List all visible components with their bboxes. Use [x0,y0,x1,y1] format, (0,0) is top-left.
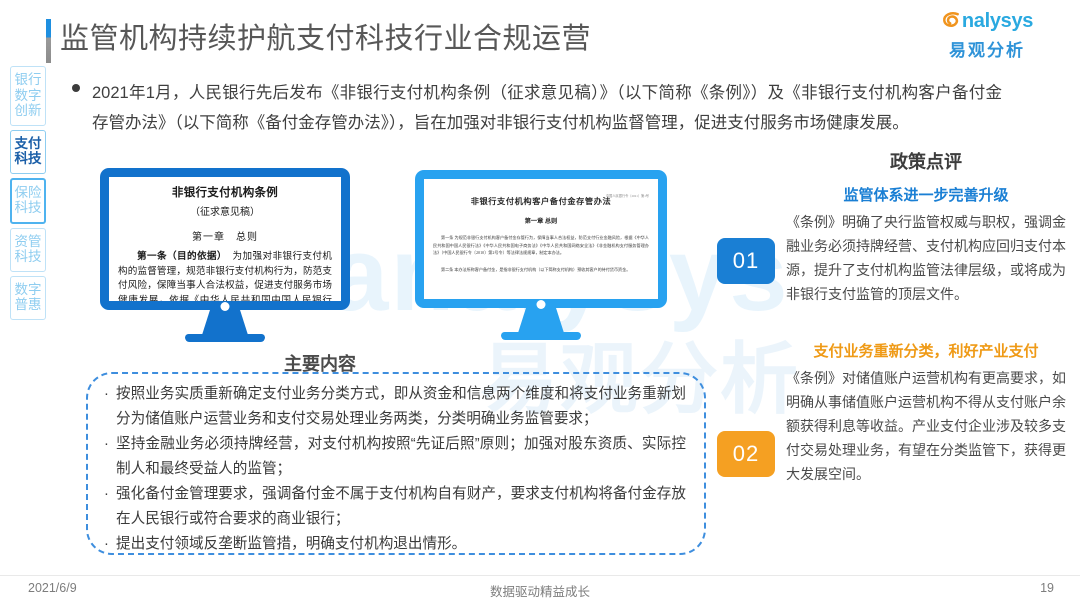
list-item-text: 强化备付金管理要求，强调备付金不属于支付机构自有财产，要求支付机构将备付金存放在… [116,482,686,532]
sidebar-item-bank-digital-innovation[interactable]: 银行数字创新 [10,66,46,126]
monitor-neck [518,307,564,333]
intro-text: 2021年1月，人民银行先后发布《非银行支付机构条例（征求意见稿）》（以下简称《… [92,78,1002,138]
title-accent-bar [46,19,51,63]
commentary-section-1: 监管体系进一步完善升级 《条例》明确了央行监管权威与职权，强调金融业务必须持牌经… [786,184,1066,306]
monitor-indicator-dot [221,302,230,311]
commentary-title: 政策点评 [786,148,1066,174]
logo-chinese-name: 易观分析 [928,36,1046,61]
doc-body: 第一条（目的依据） 为加强对非银行支付机构的监督管理，规范非银行支付机构行为，防… [118,250,332,301]
commentary-spacer [786,306,1066,340]
page-title: 监管机构持续护航支付科技行业合规运营 [60,15,591,57]
list-marker: · [104,432,116,482]
list-marker: · [104,382,116,432]
bullet-dot-icon [72,78,92,138]
main-content-title: 主要内容 [284,350,356,376]
list-item: · 坚持金融业务必须持牌经营，对支付机构按照“先证后照”原则；加强对股东资质、实… [104,432,686,482]
doc-title: 非银行支付机构条例 [118,184,332,200]
main-content-box: · 按照业务实质重新确定支付业务分类方式，即从资金和信息两个维度和将支付业务重新… [86,372,706,555]
commentary-heading: 支付业务重新分类，利好产业支付 [786,340,1066,361]
monitor-indicator-dot [537,300,546,309]
list-item-text: 提出支付领域反垄断监管措，明确支付机构退出情形。 [116,532,686,557]
slide-footer: 2021/6/9 数据驱动精益成长 19 [0,581,1080,605]
logo-main-row: nalysys [928,8,1046,34]
analysys-logo: nalysys 易观分析 [928,8,1046,61]
sidebar-item-payment-tech[interactable]: 支付科技 [10,130,46,174]
footer-page-number: 19 [1040,581,1054,595]
doc-subtitle: （征求意见稿） [118,203,332,218]
swirl-icon [941,10,961,30]
sidebar-item-asset-management-tech[interactable]: 资管科技 [10,228,46,272]
commentary-body: 《条例》对储值账户运营机构有更高要求，如明确从事储值账户运营机构不得从支付账户余… [786,366,1066,486]
intro-paragraph: 2021年1月，人民银行先后发布《非银行支付机构条例（征求意见稿）》（以下简称《… [72,78,1002,138]
badge-02: 02 [717,431,775,477]
commentary-section-2: 支付业务重新分类，利好产业支付 《条例》对储值账户运营机构有更高要求，如明确从事… [786,340,1066,486]
list-item-text: 坚持金融业务必须持牌经营，对支付机构按照“先证后照”原则；加强对股东资质、实际控… [116,432,686,482]
monitor-screen: 中国人民银行令〔2021〕第1号 非银行支付机构客户备付金存管办法 第一章 总则… [424,179,658,299]
list-marker: · [104,532,116,557]
slide-canvas: analysys 易观分析 监管机构持续护航支付科技行业合规运营 nalysys… [0,0,1080,608]
doc-body-second: 第二条 本办法所称客户备付金，是指非银行支付机构（以下简称支付机构）预收其客户的… [433,266,649,274]
list-item: · 按照业务实质重新确定支付业务分类方式，即从资金和信息两个维度和将支付业务重新… [104,382,686,432]
category-sidebar[interactable]: 银行数字创新 支付科技 保险科技 资管科技 数字普惠 [8,66,48,324]
monitor-bezel: 非银行支付机构条例 （征求意见稿） 第一章 总则 第一条（目的依据） 为加强对非… [100,168,350,310]
commentary-body: 《条例》明确了央行监管权威与职权，强调金融业务必须持牌经营、支付机构应回归支付本… [786,210,1066,306]
list-marker: · [104,482,116,532]
list-item-text: 按照业务实质重新确定支付业务分类方式，即从资金和信息两个维度和将支付业务重新划分… [116,382,686,432]
monitor-bezel: 中国人民银行令〔2021〕第1号 非银行支付机构客户备付金存管办法 第一章 总则… [415,170,667,308]
monitor-base [185,334,265,342]
doc-article-label: 第一条（目的依据） [137,251,227,262]
doc-chapter: 第一章 总则 [118,228,332,243]
sidebar-item-insurance-tech[interactable]: 保险科技 [10,178,46,224]
list-item: · 强化备付金管理要求，强调备付金不属于支付机构自有财产，要求支付机构将备付金存… [104,482,686,532]
document-preview: 非银行支付机构条例 （征求意见稿） 第一章 总则 第一条（目的依据） 为加强对非… [118,184,332,301]
list-item: · 提出支付领域反垄断监管措，明确支付机构退出情形。 [104,532,686,557]
doc-stamp: 中国人民银行令〔2021〕第1号 [606,193,649,198]
doc-body: 第一条 为规范非银行支付机构客户备付金存管行为，保障当事人合法权益，防范支付行业… [433,234,649,257]
doc-chapter: 第一章 总则 [433,216,649,225]
monitor-custody-rules: 中国人民银行令〔2021〕第1号 非银行支付机构客户备付金存管办法 第一章 总则… [415,170,667,308]
footer-slogan: 数据驱动精益成长 [0,581,1080,600]
slide-header: 监管机构持续护航支付科技行业合规运营 [0,12,1080,68]
monitor-base [501,332,581,340]
commentary-heading: 监管体系进一步完善升级 [786,184,1066,205]
document-preview: 中国人民银行令〔2021〕第1号 非银行支付机构客户备付金存管办法 第一章 总则… [433,195,649,273]
logo-wordmark: nalysys [962,11,1033,31]
badge-01: 01 [717,238,775,284]
footer-divider [0,575,1080,576]
monitor-regulation-draft: 非银行支付机构条例 （征求意见稿） 第一章 总则 第一条（目的依据） 为加强对非… [100,168,350,310]
monitor-neck [202,309,248,335]
commentary-column: 政策点评 监管体系进一步完善升级 《条例》明确了央行监管权威与职权，强调金融业务… [786,148,1066,486]
sidebar-item-digital-inclusive-finance[interactable]: 数字普惠 [10,276,46,320]
monitor-screen: 非银行支付机构条例 （征求意见稿） 第一章 总则 第一条（目的依据） 为加强对非… [109,177,341,301]
